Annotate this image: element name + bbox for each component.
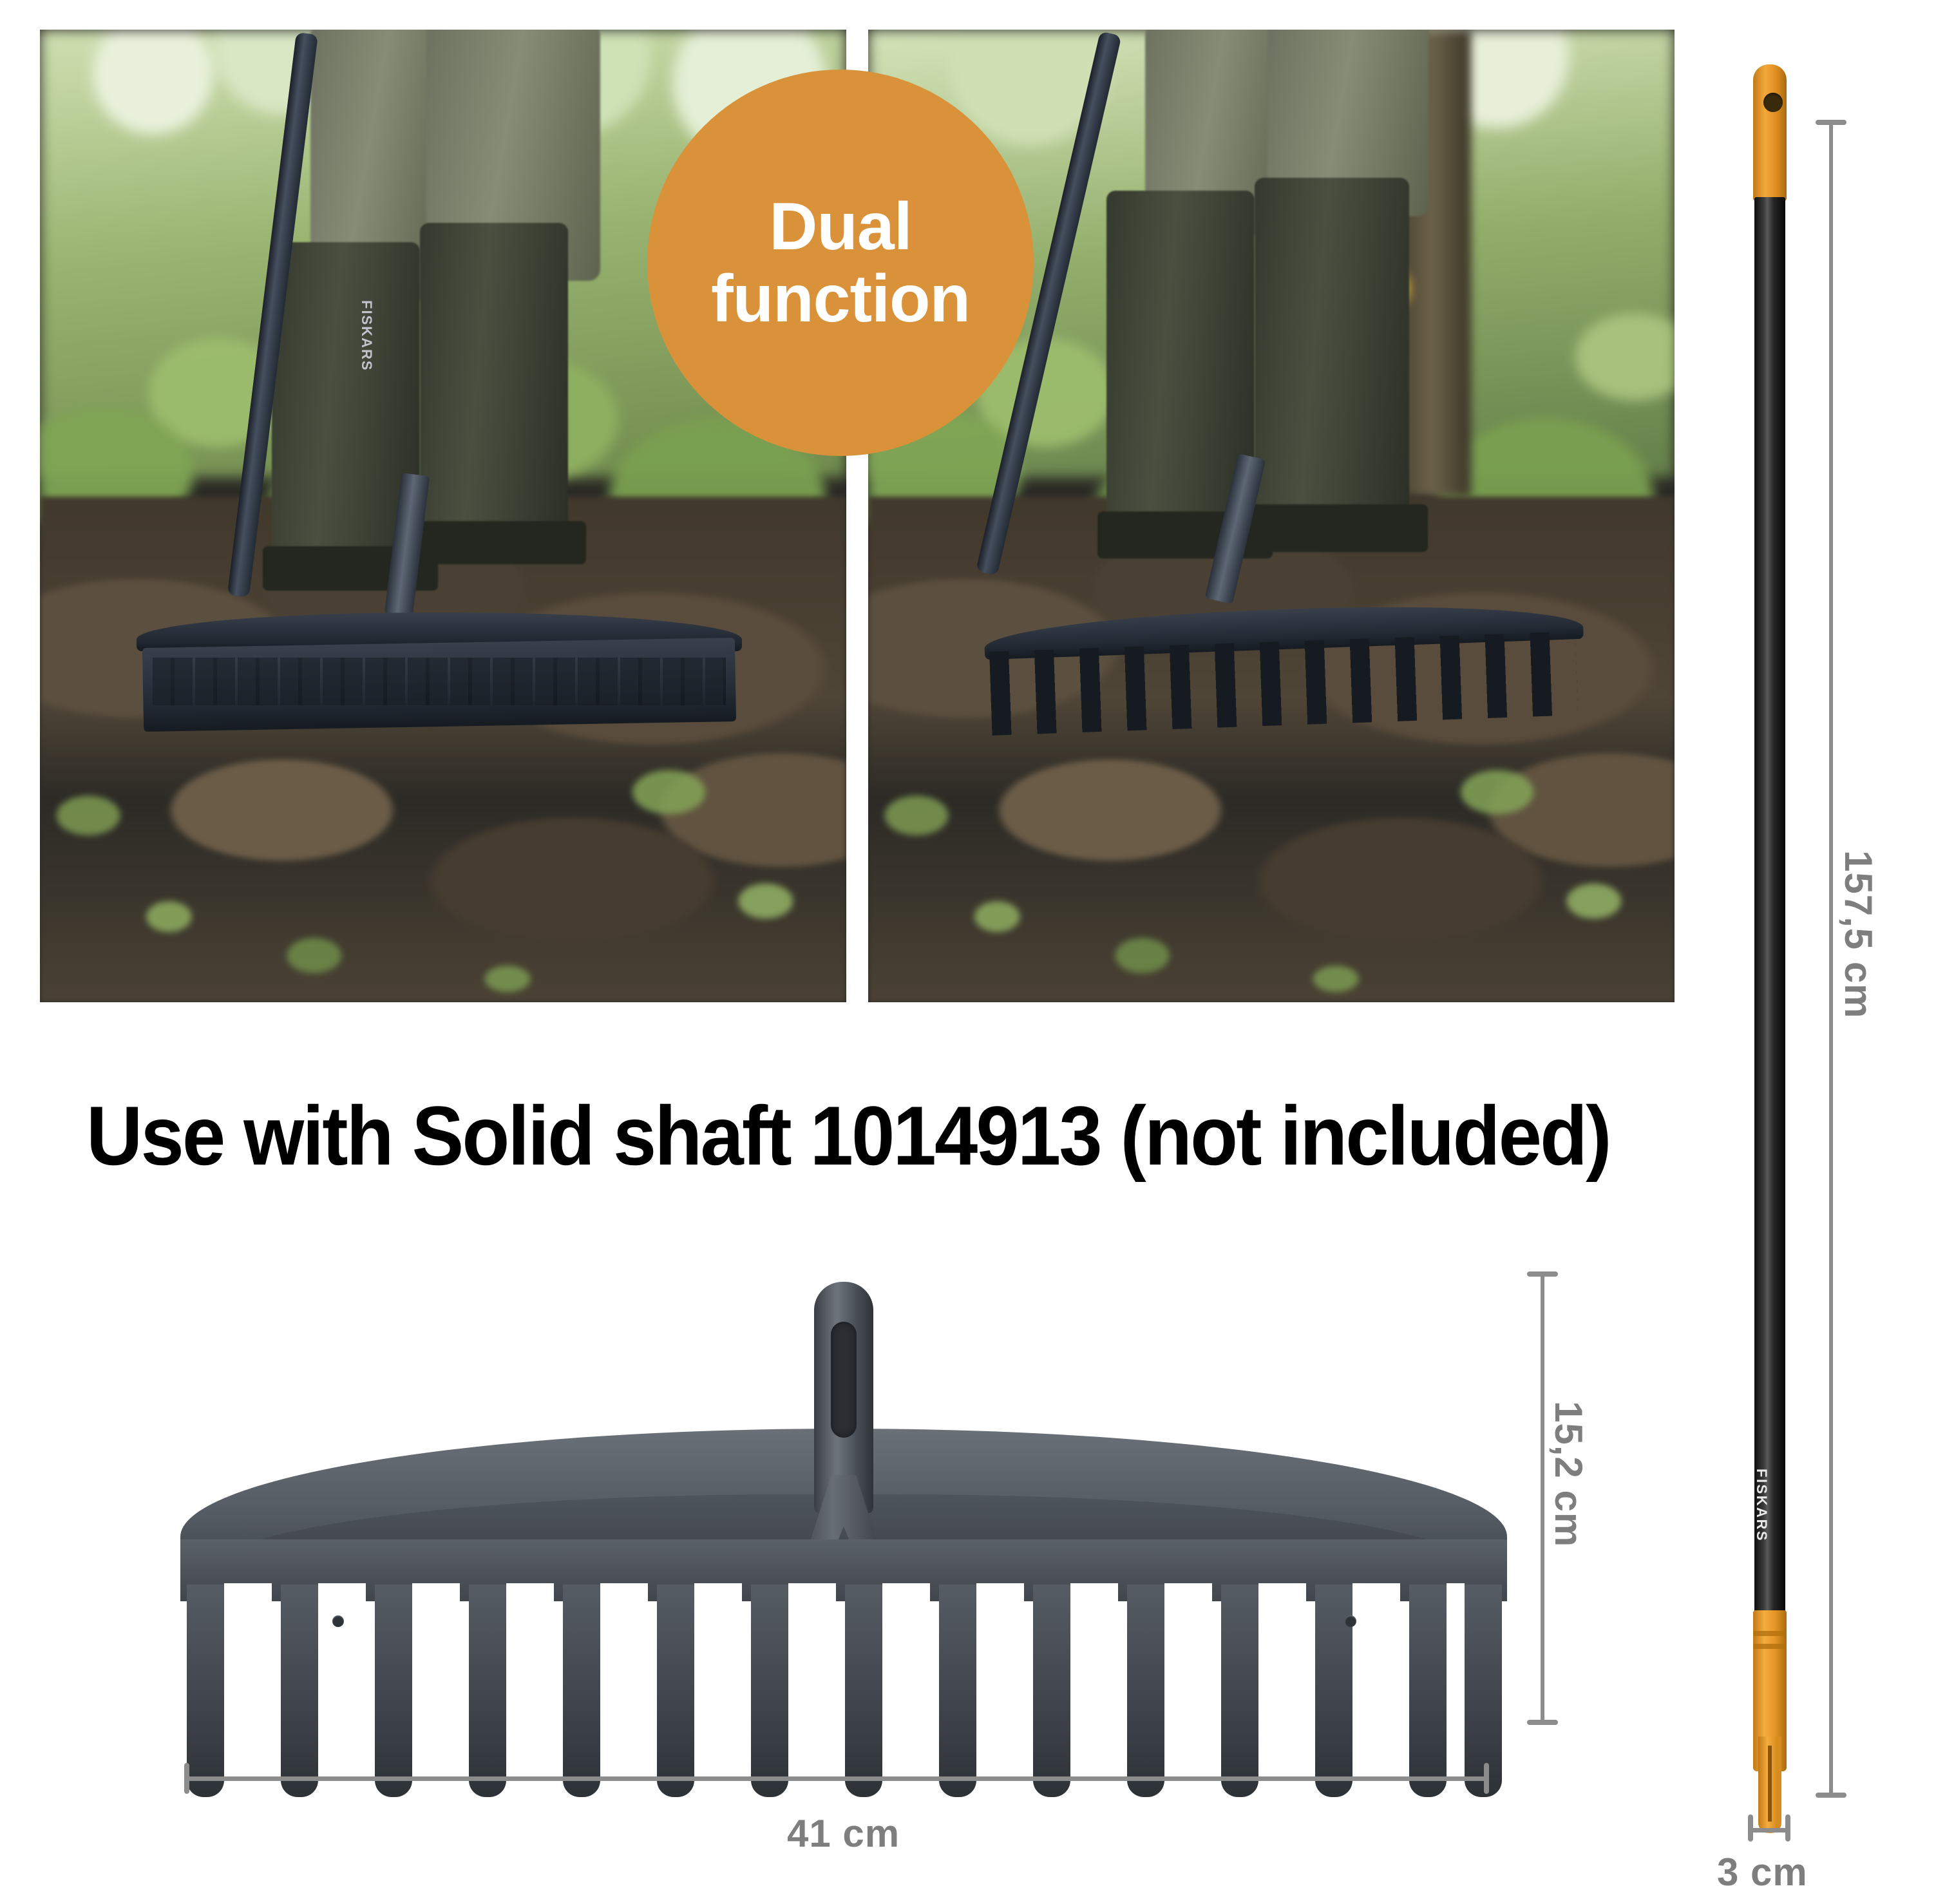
shaft-top-cap bbox=[1753, 64, 1787, 201]
tine-gap bbox=[694, 1583, 742, 1680]
tine-gap bbox=[412, 1583, 460, 1680]
dimension-cap-top bbox=[1816, 120, 1846, 125]
dimension-label-head-width: 41 cm bbox=[787, 1811, 900, 1856]
shaft-brand-text: FISKARS bbox=[358, 300, 375, 372]
hanging-hole bbox=[1763, 93, 1783, 112]
tine-gap bbox=[788, 1583, 836, 1680]
tine-gap bbox=[1447, 1583, 1465, 1680]
tine-gap bbox=[1352, 1583, 1400, 1680]
shaft-brand-logo: FISKARS bbox=[1753, 1469, 1770, 1542]
dimension-line-vertical bbox=[1829, 122, 1833, 1797]
tine bbox=[1465, 1585, 1502, 1797]
tine bbox=[375, 1585, 412, 1797]
dimension-line-vertical bbox=[1541, 1274, 1544, 1725]
tine bbox=[657, 1585, 694, 1797]
dimension-cap-top bbox=[1527, 1271, 1558, 1277]
tine bbox=[281, 1585, 318, 1797]
tine-gap bbox=[976, 1583, 1024, 1680]
tine bbox=[563, 1585, 600, 1797]
tine-gap bbox=[506, 1583, 554, 1680]
dimension-label-shaft-diameter: 3 cm bbox=[1717, 1850, 1808, 1894]
tine bbox=[845, 1585, 882, 1797]
dimension-line-horizontal bbox=[1751, 1828, 1790, 1833]
tine bbox=[187, 1585, 224, 1797]
dimension-cap-right bbox=[1484, 1763, 1489, 1794]
tine-gap bbox=[1258, 1583, 1306, 1680]
dimension-cap-bottom bbox=[1527, 1720, 1558, 1725]
tine bbox=[1033, 1585, 1070, 1797]
tine-gap bbox=[318, 1583, 366, 1680]
dimension-cap-right bbox=[1785, 1814, 1790, 1842]
dimension-label-head-height: 15,2 cm bbox=[1546, 1401, 1591, 1547]
tine bbox=[1409, 1585, 1447, 1797]
rake-head-diagram bbox=[180, 1282, 1507, 1797]
tine-gap bbox=[1164, 1583, 1212, 1680]
tine bbox=[469, 1585, 506, 1797]
tine bbox=[1127, 1585, 1164, 1797]
tine-gap bbox=[224, 1583, 272, 1680]
dimension-cap-left bbox=[184, 1763, 189, 1794]
dual-function-badge: Dual function bbox=[647, 70, 1034, 456]
connector-ring bbox=[1753, 1644, 1787, 1649]
screw-hole bbox=[332, 1615, 344, 1627]
tine-gap bbox=[1070, 1583, 1118, 1680]
tine-gap bbox=[882, 1583, 930, 1680]
badge-line-2: function bbox=[711, 263, 970, 335]
tine-gap bbox=[600, 1583, 648, 1680]
tine bbox=[939, 1585, 976, 1797]
solid-shaft-diagram: FISKARS bbox=[1751, 64, 1789, 1797]
badge-text: Dual function bbox=[711, 191, 970, 336]
screw-hole bbox=[1345, 1615, 1356, 1627]
tine bbox=[751, 1585, 788, 1797]
badge-line-1: Dual bbox=[711, 191, 970, 263]
dimension-label-shaft-length: 157,5 cm bbox=[1836, 850, 1881, 1019]
headline-text: Use with Solid shaft 1014913 (not includ… bbox=[86, 1087, 1610, 1184]
connector-ring bbox=[1753, 1631, 1787, 1636]
dimension-cap-left bbox=[1748, 1814, 1753, 1842]
connector-slot bbox=[1768, 1746, 1772, 1822]
shaft-tube bbox=[1754, 197, 1785, 1617]
socket-hole bbox=[831, 1322, 857, 1438]
dimension-line-horizontal bbox=[187, 1776, 1489, 1781]
tine bbox=[1221, 1585, 1258, 1797]
dimension-cap-bottom bbox=[1816, 1793, 1846, 1798]
